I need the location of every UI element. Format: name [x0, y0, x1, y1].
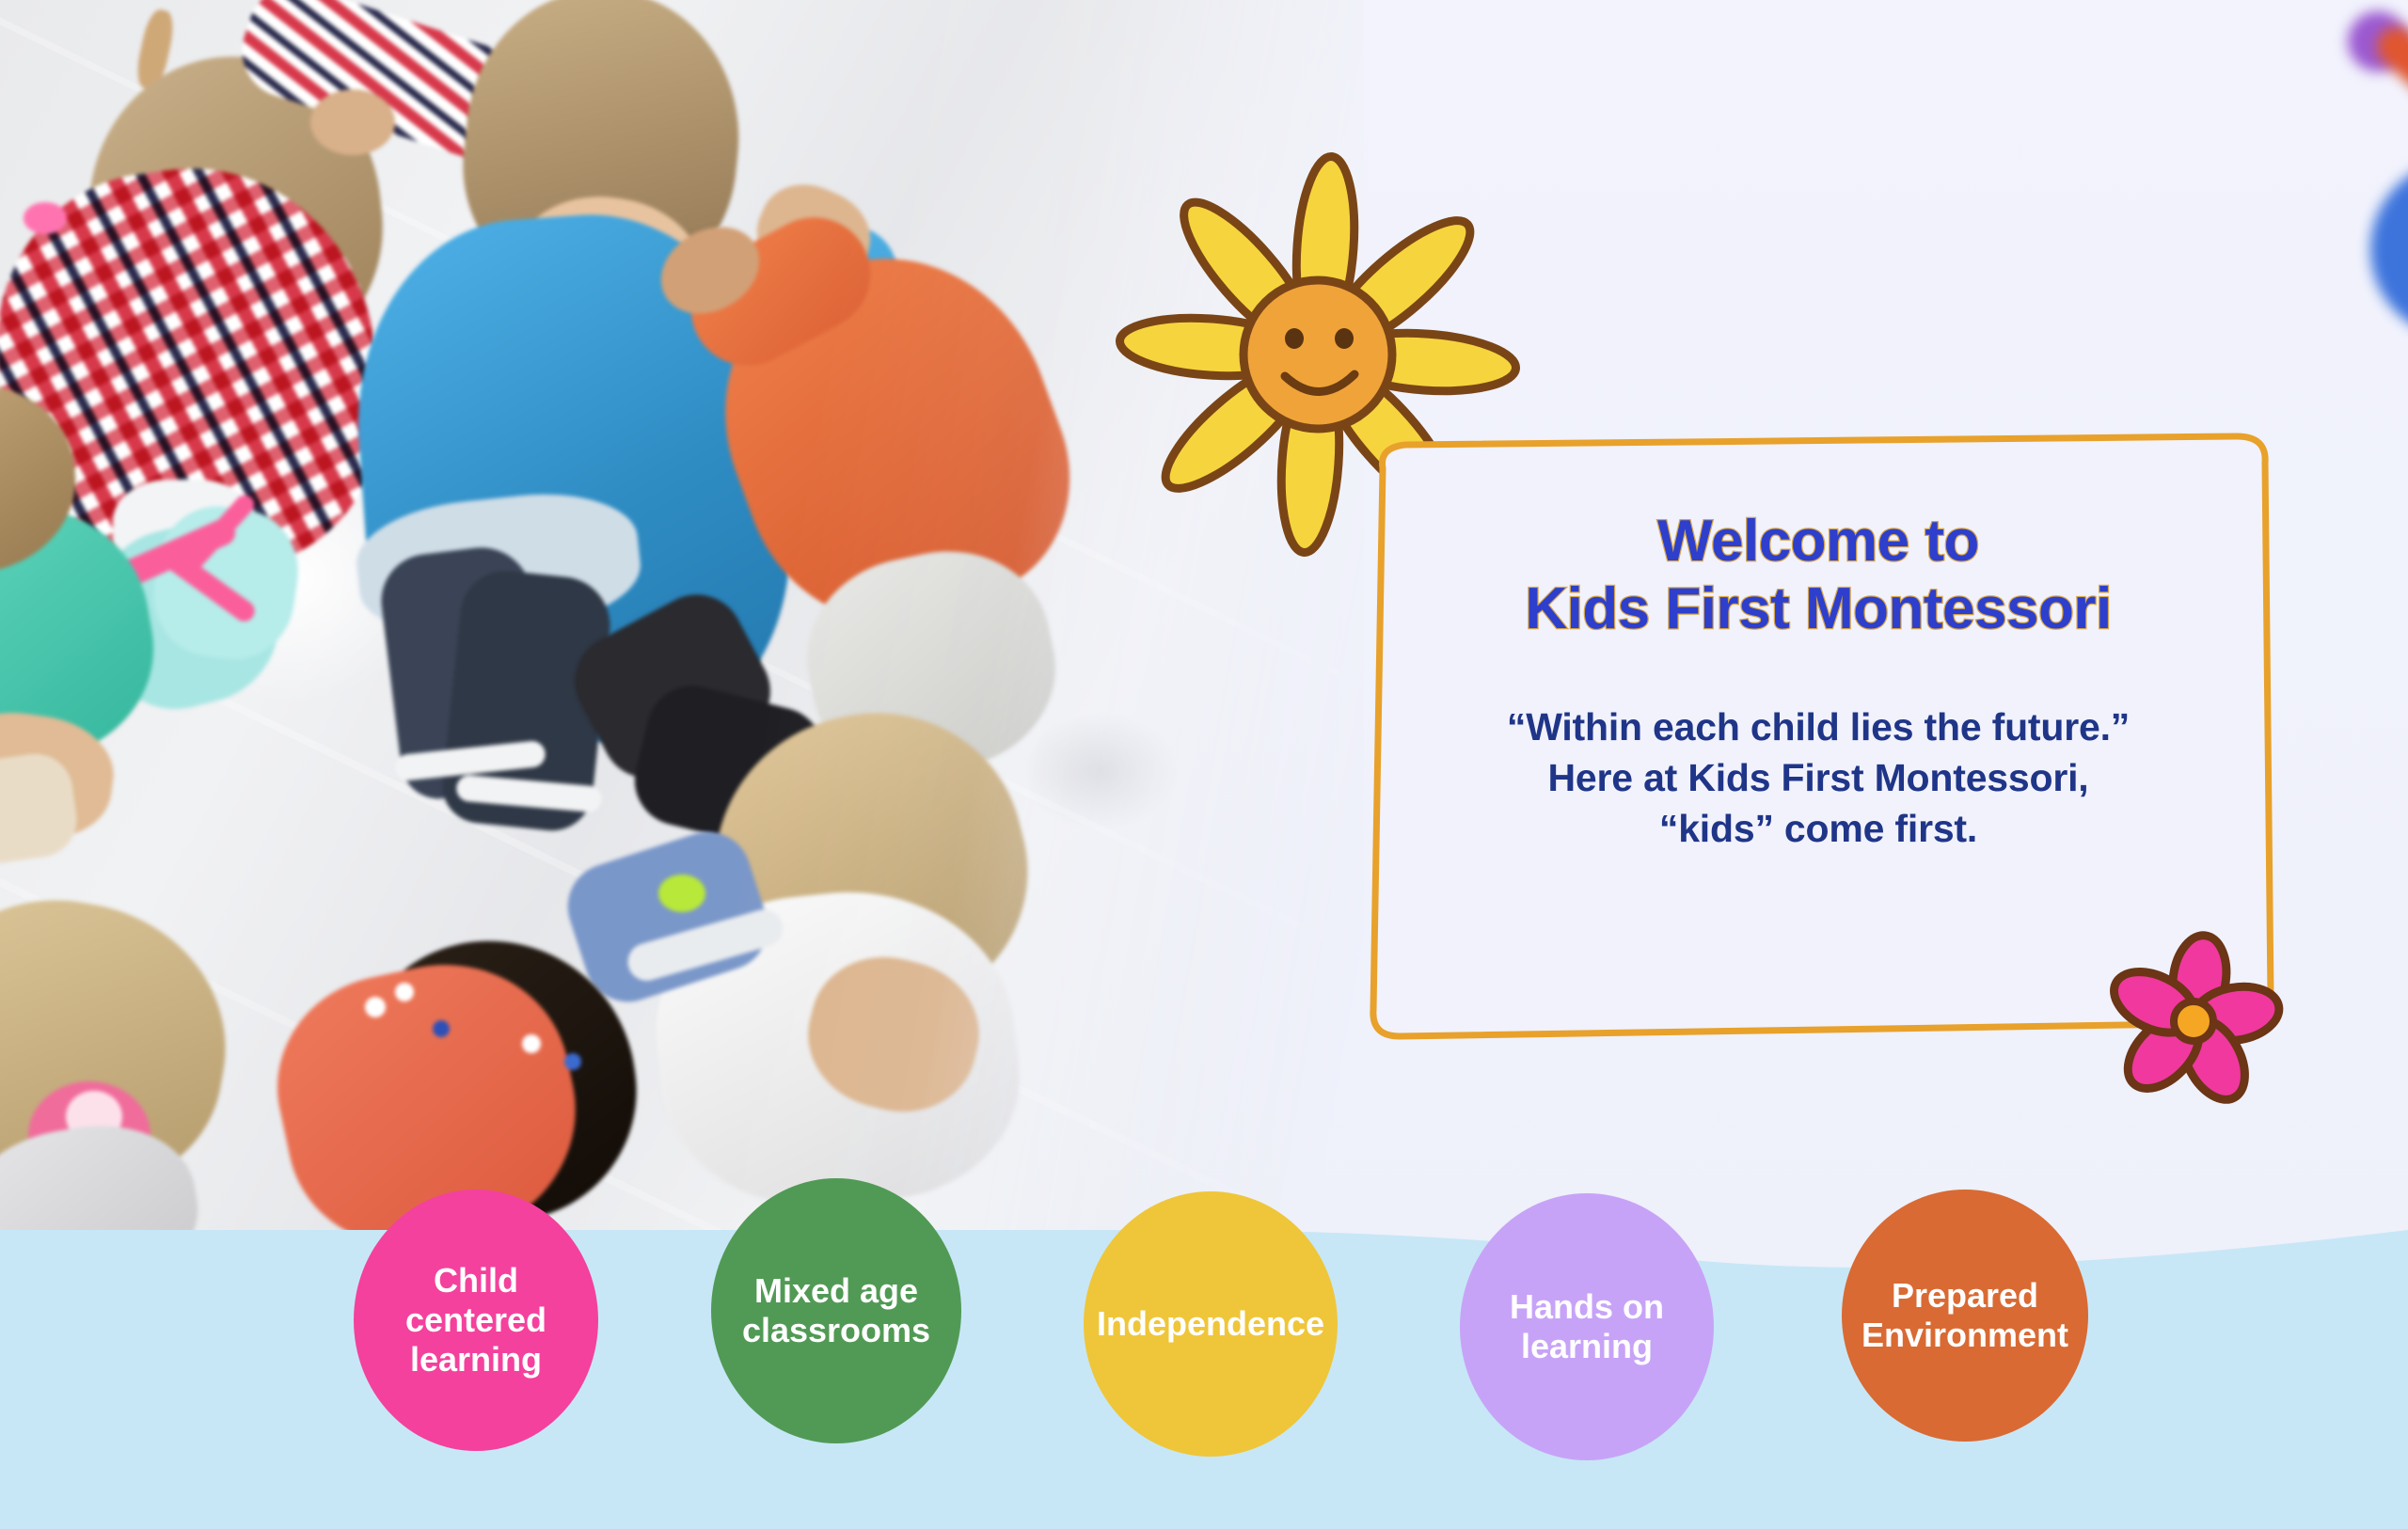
feature-label: Independence	[1097, 1304, 1324, 1344]
feature-label: Mixed age classrooms	[742, 1271, 930, 1350]
feature-circle-mixed-age-classrooms[interactable]: Mixed age classrooms	[711, 1178, 961, 1443]
panel-quote: “Within each child lies the future.” Her…	[1507, 701, 2130, 854]
panel-title-line-2: Kids First Montessori	[1525, 576, 2111, 641]
feature-label: Prepared Environment	[1861, 1276, 2068, 1355]
panel-quote-line-1: “Within each child lies the future.”	[1507, 705, 2130, 749]
slide-canvas: Welcome to Kids First Montessori “Within…	[0, 0, 2408, 1529]
welcome-panel: Welcome to Kids First Montessori “Within…	[1362, 434, 2274, 1036]
feature-label: Hands on learning	[1510, 1287, 1664, 1366]
feature-circle-hands-on-learning[interactable]: Hands on learning	[1460, 1193, 1714, 1460]
feature-circle-independence[interactable]: Independence	[1084, 1191, 1338, 1457]
pink-flower-icon	[2116, 950, 2323, 1119]
panel-quote-line-3: “kids” come first.	[1659, 807, 1977, 850]
panel-quote-line-2: Here at Kids First Montessori,	[1548, 756, 2089, 799]
feature-circle-row: Child centered learning Mixed age classr…	[0, 1169, 2408, 1451]
feature-label: Child centered learning	[405, 1261, 547, 1379]
panel-title-line-1: Welcome to	[1657, 509, 1979, 574]
page-title: Welcome to Kids First Montessori	[1525, 508, 2111, 643]
feature-circle-child-centered-learning[interactable]: Child centered learning	[354, 1190, 598, 1451]
feature-circle-prepared-environment[interactable]: Prepared Environment	[1842, 1190, 2088, 1442]
